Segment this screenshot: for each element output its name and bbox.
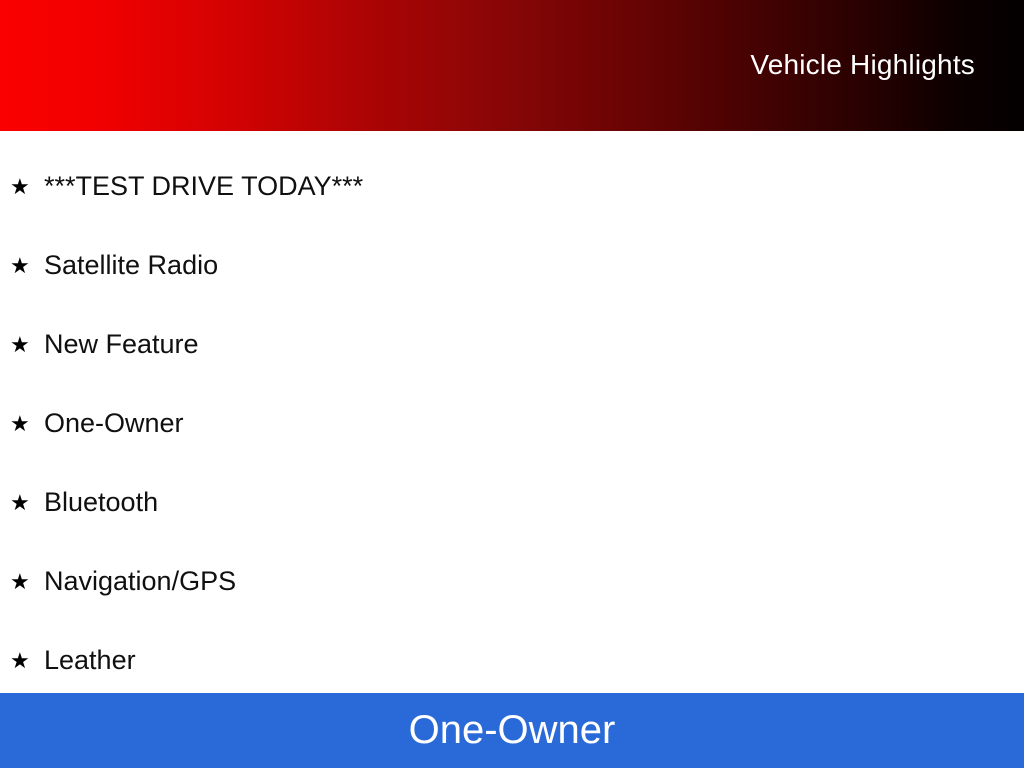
star-icon: ★ bbox=[10, 334, 44, 356]
star-icon: ★ bbox=[10, 492, 44, 514]
list-item-label: ***TEST DRIVE TODAY*** bbox=[44, 173, 363, 200]
list-item: ★ New Feature bbox=[0, 305, 1024, 384]
bottom-banner: One-Owner bbox=[0, 693, 1024, 768]
star-icon: ★ bbox=[10, 571, 44, 593]
list-item-label: One-Owner bbox=[44, 410, 184, 437]
list-item: ★ One-Owner bbox=[0, 384, 1024, 463]
bottom-banner-label: One-Owner bbox=[409, 710, 616, 750]
star-icon: ★ bbox=[10, 413, 44, 435]
header-banner: Vehicle Highlights bbox=[0, 0, 1024, 131]
list-item: ★ Satellite Radio bbox=[0, 226, 1024, 305]
star-icon: ★ bbox=[10, 255, 44, 277]
list-item-label: Bluetooth bbox=[44, 489, 158, 516]
star-icon: ★ bbox=[10, 650, 44, 672]
list-item: ★ Bluetooth bbox=[0, 463, 1024, 542]
list-item-label: Leather bbox=[44, 647, 136, 674]
vehicle-highlights-list: ★ ***TEST DRIVE TODAY*** ★ Satellite Rad… bbox=[0, 131, 1024, 768]
page-title: Vehicle Highlights bbox=[750, 51, 975, 79]
list-item-label: New Feature bbox=[44, 331, 199, 358]
list-item: ★ ***TEST DRIVE TODAY*** bbox=[0, 147, 1024, 226]
list-item: ★ Navigation/GPS bbox=[0, 542, 1024, 621]
list-item: ★ Leather bbox=[0, 621, 1024, 700]
list-item-label: Satellite Radio bbox=[44, 252, 218, 279]
star-icon: ★ bbox=[10, 176, 44, 198]
vehicle-highlights-slide: Vehicle Highlights ★ ***TEST DRIVE TODAY… bbox=[0, 0, 1024, 768]
list-item-label: Navigation/GPS bbox=[44, 568, 236, 595]
